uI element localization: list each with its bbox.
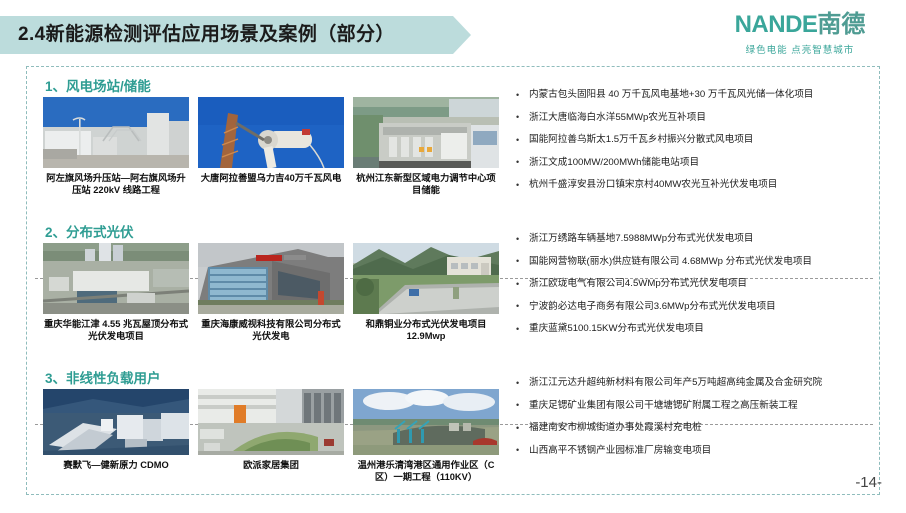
section-title: 3、非线性负载用户 (45, 367, 161, 387)
wind-turbine-photo (198, 97, 344, 168)
project-list: 内蒙古包头固阳县 40 万千瓦风电基地+30 万千瓦风光储一体化项目 浙江大唐临… (515, 89, 873, 202)
office-building-photo (198, 243, 344, 314)
gallery-item: 杭州江东新型区域电力调节中心项目储能 (353, 97, 499, 196)
gallery-item: 和鼎铜业分布式光伏发电项目12.9Mwp (353, 243, 499, 342)
section-distributed-pv: 2、分布式光伏 (27, 215, 881, 358)
substation-photo (43, 97, 189, 168)
logo-tagline: 绿色电能 点亮智慧城市 (712, 42, 888, 56)
gallery-item: 阿左旗风场升压站—阿右旗风场升压站 220kV 线路工程 (43, 97, 189, 196)
image-caption: 杭州江东新型区域电力调节中心项目储能 (353, 172, 499, 196)
energy-storage-aerial-photo (353, 97, 499, 168)
list-item: 国能网营物联(丽水)供应链有限公司 4.68MWp 分布式光伏发电项目 (515, 256, 873, 268)
factory-courtyard-aerial-photo (198, 389, 344, 455)
image-caption: 欧派家居集团 (198, 459, 344, 471)
logo-latin: NANDE (735, 11, 818, 38)
logo-wordmark: NANDE南德 (712, 12, 888, 38)
list-item: 内蒙古包头固阳县 40 万千瓦风电基地+30 万千瓦风光储一体化项目 (515, 89, 873, 101)
image-caption: 和鼎铜业分布式光伏发电项目12.9Mwp (353, 318, 499, 342)
list-item: 浙江欧珑电气有限公司4.5WMp分布式光伏发电项目 (515, 278, 873, 290)
list-item: 国能阿拉善乌斯太1.5万千瓦乡村振兴分散式风电项目 (515, 134, 873, 146)
page-title: 2.4新能源检测评估应用场景及案例（部分） (18, 17, 395, 53)
image-caption: 重庆海康威视科技有限公司分布式光伏发电 (198, 318, 344, 342)
image-caption: 温州港乐清湾港区通用作业区（C 区）一期工程（110KV） (353, 459, 499, 483)
section-title: 2、分布式光伏 (45, 221, 134, 241)
list-item: 浙江万绣路车辆基地7.5988MWp分布式光伏发电项目 (515, 233, 873, 245)
image-caption: 重庆华能江津 4.55 兆瓦屋顶分布式光伏发电项目 (43, 318, 189, 342)
gallery-item: 大唐阿拉善盟乌力吉40万千瓦风电 (198, 97, 344, 184)
image-caption: 阿左旗风场升压站—阿右旗风场升压站 220kV 线路工程 (43, 172, 189, 196)
project-list: 浙江万绣路车辆基地7.5988MWp分布式光伏发电项目 国能网营物联(丽水)供应… (515, 233, 873, 346)
brand-logo: NANDE南德 绿色电能 点亮智慧城市 (712, 12, 888, 56)
list-item: 浙江江元达升超纯新材料有限公司年产5万吨超高纯金属及合金研究院 (515, 377, 873, 389)
image-caption: 大唐阿拉善盟乌力吉40万千瓦风电 (198, 172, 344, 184)
industrial-plant-aerial-photo (43, 243, 189, 314)
section-nonlinear-load: 3、非线性负载用户 (27, 361, 881, 494)
slide-root: 2.4新能源检测评估应用场景及案例（部分） NANDE南德 绿色电能 点亮智慧城… (0, 0, 906, 513)
list-item: 宁波韵必达电子商务有限公司3.6MWp分布式光伏发电项目 (515, 301, 873, 313)
port-cranes-aerial-photo (353, 389, 499, 455)
campus-mountain-photo (353, 243, 499, 314)
project-list: 浙江江元达升超纯新材料有限公司年产5万吨超高纯金属及合金研究院 重庆足锶矿业集团… (515, 377, 873, 467)
gallery-item: 重庆华能江津 4.55 兆瓦屋顶分布式光伏发电项目 (43, 243, 189, 342)
list-item: 重庆足锶矿业集团有限公司干塘塘锶矿附属工程之高压新装工程 (515, 400, 873, 412)
gallery-item: 赛默飞—健新原力 CDMO (43, 389, 189, 471)
page-number: -14- (855, 474, 882, 491)
list-item: 重庆蓝黛5100.15KW分布式光伏发电项目 (515, 323, 873, 335)
logo-chinese: 南德 (817, 11, 865, 38)
list-item: 浙江大唐临海白水洋55MWp农光互补项目 (515, 112, 873, 124)
section-wind-storage: 1、风电场站/储能 (27, 69, 881, 212)
list-item: 浙江文成100MW/200MWh储能电站项目 (515, 157, 873, 169)
list-item: 杭州千盛淳安县汾口镇宋京村40MW农光互补光伏发电项目 (515, 179, 873, 191)
image-caption: 赛默飞—健新原力 CDMO (43, 459, 189, 471)
gallery-item: 重庆海康威视科技有限公司分布式光伏发电 (198, 243, 344, 342)
list-item: 福建南安市柳城街道办事处霞溪村充电桩 (515, 422, 873, 434)
gallery-item: 温州港乐清湾港区通用作业区（C 区）一期工程（110KV） (353, 389, 499, 483)
section-title: 1、风电场站/储能 (45, 75, 151, 95)
campus-rendering-aerial-photo (43, 389, 189, 455)
gallery-item: 欧派家居集团 (198, 389, 344, 471)
list-item: 山西高平不锈钢产业园标准厂房输变电项目 (515, 445, 873, 457)
content-card: 1、风电场站/储能 (26, 66, 880, 495)
